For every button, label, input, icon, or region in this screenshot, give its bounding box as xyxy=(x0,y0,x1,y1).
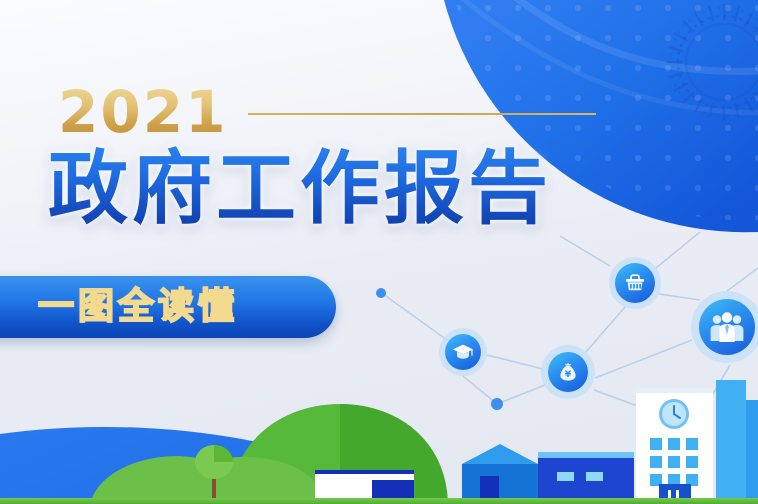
year-label: 2021 xyxy=(58,84,227,140)
svg-text:¥: ¥ xyxy=(565,370,572,380)
sunburst-gear-pattern xyxy=(666,4,758,120)
green-hill-mid xyxy=(170,457,326,504)
gold-divider-rule xyxy=(248,113,596,115)
poster-canvas: 2021 政府工作报告 一图全读懂 xyxy=(0,0,758,504)
analog-clock xyxy=(659,399,689,429)
green-hills xyxy=(90,404,448,504)
tree-left xyxy=(195,445,233,500)
clock-tower-building xyxy=(636,388,713,502)
network-dot xyxy=(491,398,503,410)
headline-block: 2021 政府工作报告 一图全读懂 xyxy=(0,0,600,360)
green-hill-large xyxy=(230,404,448,504)
green-hill-small xyxy=(90,456,258,504)
node-disc xyxy=(615,263,655,303)
year-row: 2021 xyxy=(58,84,538,140)
bottom-left-wave-decoration xyxy=(0,427,440,504)
node-halo xyxy=(609,257,661,309)
node-halo xyxy=(691,291,758,363)
city-skyline-illustration xyxy=(0,352,758,504)
green-hill-large-shade xyxy=(340,404,448,504)
page-title: 政府工作报告 xyxy=(48,146,552,232)
factory-building xyxy=(538,452,634,502)
warehouse-building xyxy=(315,470,414,502)
house-blue xyxy=(462,444,538,502)
people-group-icon xyxy=(709,311,745,343)
shopping-basket-icon xyxy=(623,271,647,295)
node-disc: 5G xyxy=(676,399,706,429)
read-in-one-chart-button[interactable]: 一图全读懂 xyxy=(0,276,336,338)
node-disc xyxy=(699,299,755,355)
money-bag-icon: ¥ xyxy=(556,360,580,384)
node-people[interactable] xyxy=(691,291,758,363)
node-consumption[interactable] xyxy=(609,257,661,309)
read-in-one-chart-label: 一图全读懂 xyxy=(38,276,238,338)
tower-tall-building xyxy=(716,380,758,502)
node-halo xyxy=(672,395,710,433)
5g-text: 5G xyxy=(684,415,697,425)
5g-signal-icon: 5G xyxy=(680,403,702,425)
grass-strip xyxy=(0,498,758,504)
node-5g[interactable]: 5G xyxy=(672,395,710,433)
window-grid xyxy=(650,438,698,486)
